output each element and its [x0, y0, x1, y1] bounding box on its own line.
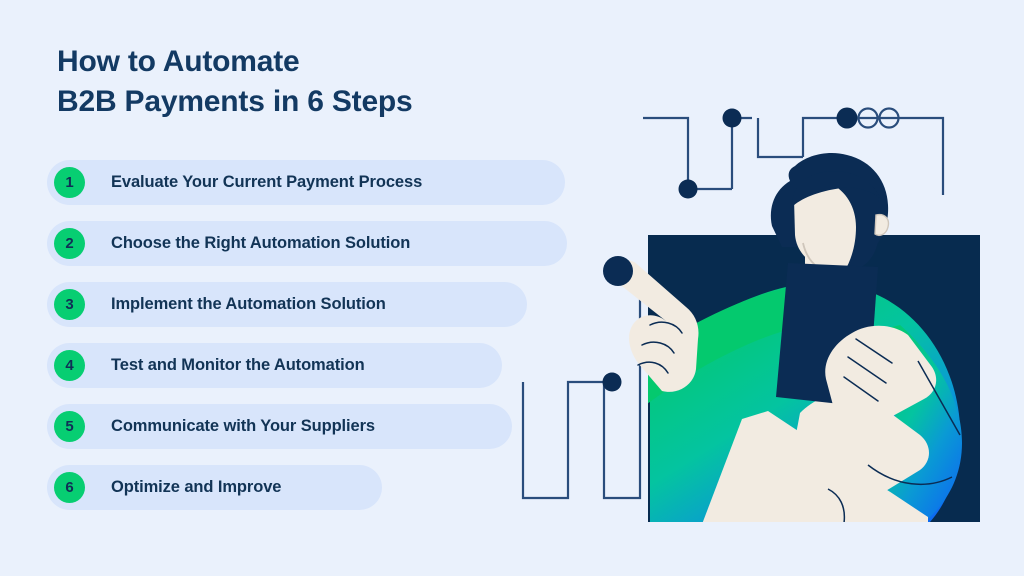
page-title: How to Automate B2B Payments in 6 Steps [57, 42, 577, 121]
step-pill-6[interactable]: 6 Optimize and Improve [47, 465, 382, 510]
pointer-target-dot [603, 256, 633, 286]
title-line-2: B2B Payments in 6 Steps [57, 82, 577, 122]
hero-illustration [500, 95, 1000, 540]
step-label-4: Test and Monitor the Automation [111, 356, 365, 375]
ear [875, 215, 888, 236]
step-label-2: Choose the Right Automation Solution [111, 234, 410, 253]
step-label-1: Evaluate Your Current Payment Process [111, 173, 422, 192]
step-number-badge-6: 6 [54, 472, 85, 503]
circuit-dot-filled [837, 108, 858, 129]
step-label-5: Communicate with Your Suppliers [111, 417, 375, 436]
step-number-badge-1: 1 [54, 167, 85, 198]
step-pill-2[interactable]: 2 Choose the Right Automation Solution [47, 221, 567, 266]
step-pill-4[interactable]: 4 Test and Monitor the Automation [47, 343, 502, 388]
step-label-6: Optimize and Improve [111, 478, 281, 497]
step-number-badge-2: 2 [54, 228, 85, 259]
step-pill-3[interactable]: 3 Implement the Automation Solution [47, 282, 527, 327]
circuit-dot-filled [679, 180, 698, 199]
person-figure [603, 153, 962, 540]
title-line-1: How to Automate [57, 42, 577, 82]
circuit-dot-filled [603, 373, 622, 392]
infographic-canvas: How to Automate B2B Payments in 6 Steps … [0, 0, 1024, 576]
step-number-badge-5: 5 [54, 411, 85, 442]
step-label-3: Implement the Automation Solution [111, 295, 386, 314]
step-pill-1[interactable]: 1 Evaluate Your Current Payment Process [47, 160, 565, 205]
step-number-badge-4: 4 [54, 350, 85, 381]
step-pill-5[interactable]: 5 Communicate with Your Suppliers [47, 404, 512, 449]
step-number-badge-3: 3 [54, 289, 85, 320]
circuit-dot-filled [723, 109, 742, 128]
